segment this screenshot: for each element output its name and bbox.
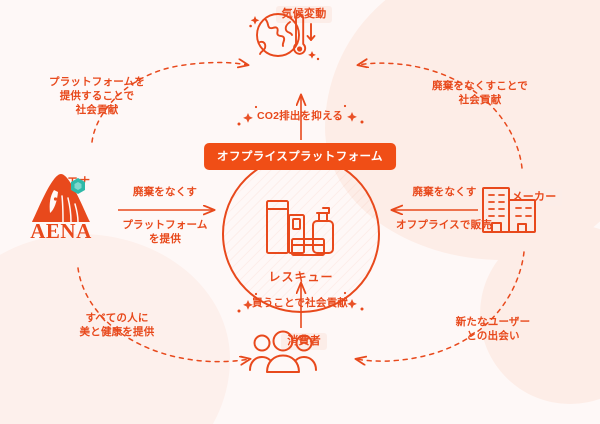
dashed-arrow-maker-to-consumer (356, 252, 524, 361)
node-climate[interactable]: 気候変動 (248, 4, 360, 24)
diagram-canvas: レスキュー オフプライスプラットフォーム 気候変動 (0, 0, 600, 424)
people-group-icon (248, 330, 318, 376)
node-consumer[interactable]: 消費者 (248, 330, 360, 350)
aena-logo-icon: AENA (18, 170, 104, 242)
rescue-circle: レスキュー (222, 155, 380, 313)
flow-label-right-top: 廃棄をなくす (382, 186, 507, 200)
flow-label-co2: CO2排出を抑える (225, 110, 375, 124)
globe-thermometer-icon (248, 4, 322, 66)
platform-badge[interactable]: オフプライスプラットフォーム (204, 143, 396, 170)
rescue-label: レスキュー (224, 268, 378, 285)
flow-label-left-bottom: プラットフォーム を提供 (100, 219, 230, 247)
flow-label-right-bottom: オフプライスで販売 (380, 219, 508, 233)
flow-label-top-right: 廃棄をなくすことで 社会貢献 (405, 80, 555, 108)
flow-label-buy: 買うことで社会貢献 (225, 297, 375, 311)
background-blob-bottom-right (480, 224, 600, 404)
flow-label-left-top: 廃棄をなくす (100, 186, 230, 200)
cosmetics-products-icon (263, 197, 339, 259)
flow-label-bottom-right: 新たなユーザー との出会い (418, 316, 568, 344)
svg-text:AENA: AENA (30, 219, 92, 243)
flow-label-bottom-left: すべての人に 美と健康を提供 (42, 312, 192, 340)
flow-label-top-left: プラットフォームを 提供することで 社会貢献 (22, 76, 172, 118)
